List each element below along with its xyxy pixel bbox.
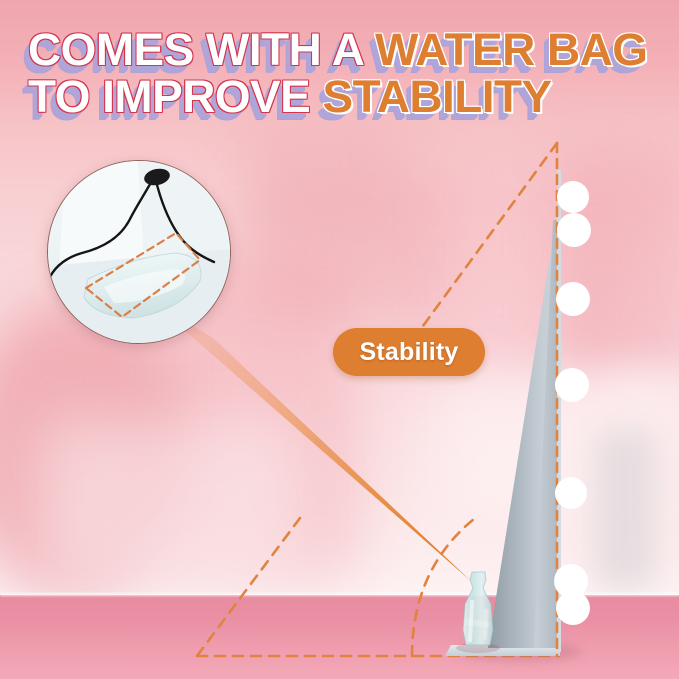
- headline-line2-accent: STABILITY: [322, 71, 551, 122]
- headline-line-1: COMES WITH A WATER BAG: [28, 26, 671, 73]
- page-title: COMES WITH A WATER BAG TO IMPROVE STABIL…: [28, 26, 671, 120]
- magnified-inset-circle: [47, 160, 231, 344]
- background-blur-shape: [40, 420, 300, 590]
- infographic-canvas: Stability COMES WITH A WATER BAG TO IMPR…: [0, 0, 679, 679]
- headline-line1-accent: WATER BAG: [375, 24, 647, 75]
- stability-callout-label: Stability: [359, 338, 458, 367]
- headline-line-2: TO IMPROVE STABILITY: [28, 73, 671, 120]
- stability-callout-pill: Stability: [333, 328, 485, 376]
- headline-line1-white: COMES WITH A: [28, 24, 375, 75]
- inset-photo: [48, 161, 230, 343]
- table-surface: [0, 595, 679, 679]
- headline-line2-white: TO IMPROVE: [28, 71, 322, 122]
- background-blur-shape: [560, 150, 679, 380]
- table-edge-highlight: [0, 593, 679, 596]
- background-blur-shape: [595, 430, 655, 590]
